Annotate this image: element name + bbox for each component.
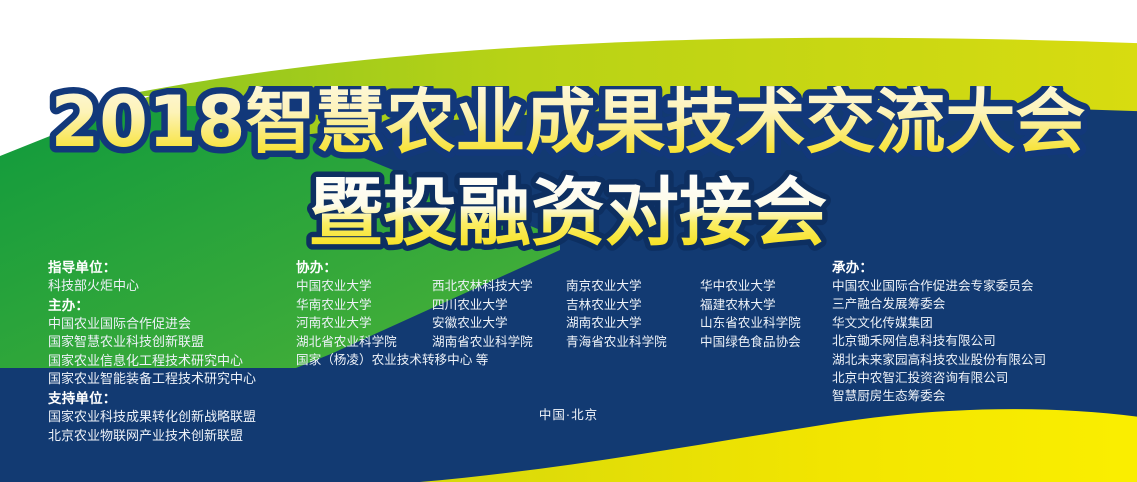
- coorganizer-item: 中国农业大学: [296, 277, 432, 296]
- organizer-item: 北京锄禾网信息科技有限公司: [832, 332, 1132, 350]
- coorganizer-item: 青海省农业科学院: [566, 333, 700, 352]
- column-organizers: 承办： 中国农业国际合作促进会专家委员会 三产融合发展筹委会 华文文化传媒集团 …: [832, 258, 1132, 406]
- coorganizer-item: 山东省农业科学院: [700, 314, 816, 333]
- organizer-item: 华文文化传媒集团: [832, 314, 1132, 332]
- organizer-item: 三产融合发展筹委会: [832, 295, 1132, 313]
- coorganizer-grid: 中国农业大学 西北农林科技大学 南京农业大学 华中农业大学 华南农业大学 四川农…: [296, 277, 816, 370]
- coorganizer-item: 西北农林科技大学: [432, 277, 566, 296]
- organizer-item: 湖北未来家园高科技农业股份有限公司: [832, 351, 1132, 369]
- coorganizer-item: 中国绿色食品协会: [700, 333, 816, 352]
- location-label: 中国·北京: [0, 404, 1137, 423]
- coorganizer-item: 华南农业大学: [296, 296, 432, 315]
- coorganizer-heading: 协办：: [296, 258, 816, 277]
- host-item: 中国农业国际合作促进会: [48, 315, 298, 334]
- host-item: 国家农业信息化工程技术研究中心: [48, 352, 298, 371]
- coorganizer-item: 南京农业大学: [566, 277, 700, 296]
- coorganizer-item: 安徽农业大学: [432, 314, 566, 333]
- coorganizer-footnote: 国家（杨凌）农业技术转移中心 等: [296, 351, 816, 370]
- host-item: 国家智慧农业科技创新联盟: [48, 333, 298, 352]
- coorganizer-item: 湖北省农业科学院: [296, 333, 432, 352]
- coorganizer-item: 吉林农业大学: [566, 296, 700, 315]
- coorganizer-item: 湖南省农业科学院: [432, 333, 566, 352]
- coorganizer-item: 湖南农业大学: [566, 314, 700, 333]
- host-heading: 主办：: [48, 296, 298, 315]
- guidance-item: 科技部火炬中心: [48, 277, 298, 296]
- coorganizer-item: 华中农业大学: [700, 277, 816, 296]
- organizer-heading: 承办：: [832, 258, 1132, 277]
- coorganizer-item: 四川农业大学: [432, 296, 566, 315]
- conference-banner: 2018智慧农业成果技术交流大会 2018智慧农业成果技术交流大会 暨投融资对接…: [0, 0, 1137, 482]
- coorganizer-item: 河南农业大学: [296, 314, 432, 333]
- host-item: 国家农业智能装备工程技术研究中心: [48, 370, 298, 389]
- organizer-item: 中国农业国际合作促进会专家委员会: [832, 277, 1132, 295]
- support-item: 北京农业物联网产业技术创新联盟: [48, 427, 298, 446]
- guidance-heading: 指导单位：: [48, 258, 298, 277]
- coorganizer-item: 福建农林大学: [700, 296, 816, 315]
- column-coorganizers: 协办： 中国农业大学 西北农林科技大学 南京农业大学 华中农业大学 华南农业大学…: [296, 258, 816, 370]
- organizer-item: 北京中农智汇投资咨询有限公司: [832, 369, 1132, 387]
